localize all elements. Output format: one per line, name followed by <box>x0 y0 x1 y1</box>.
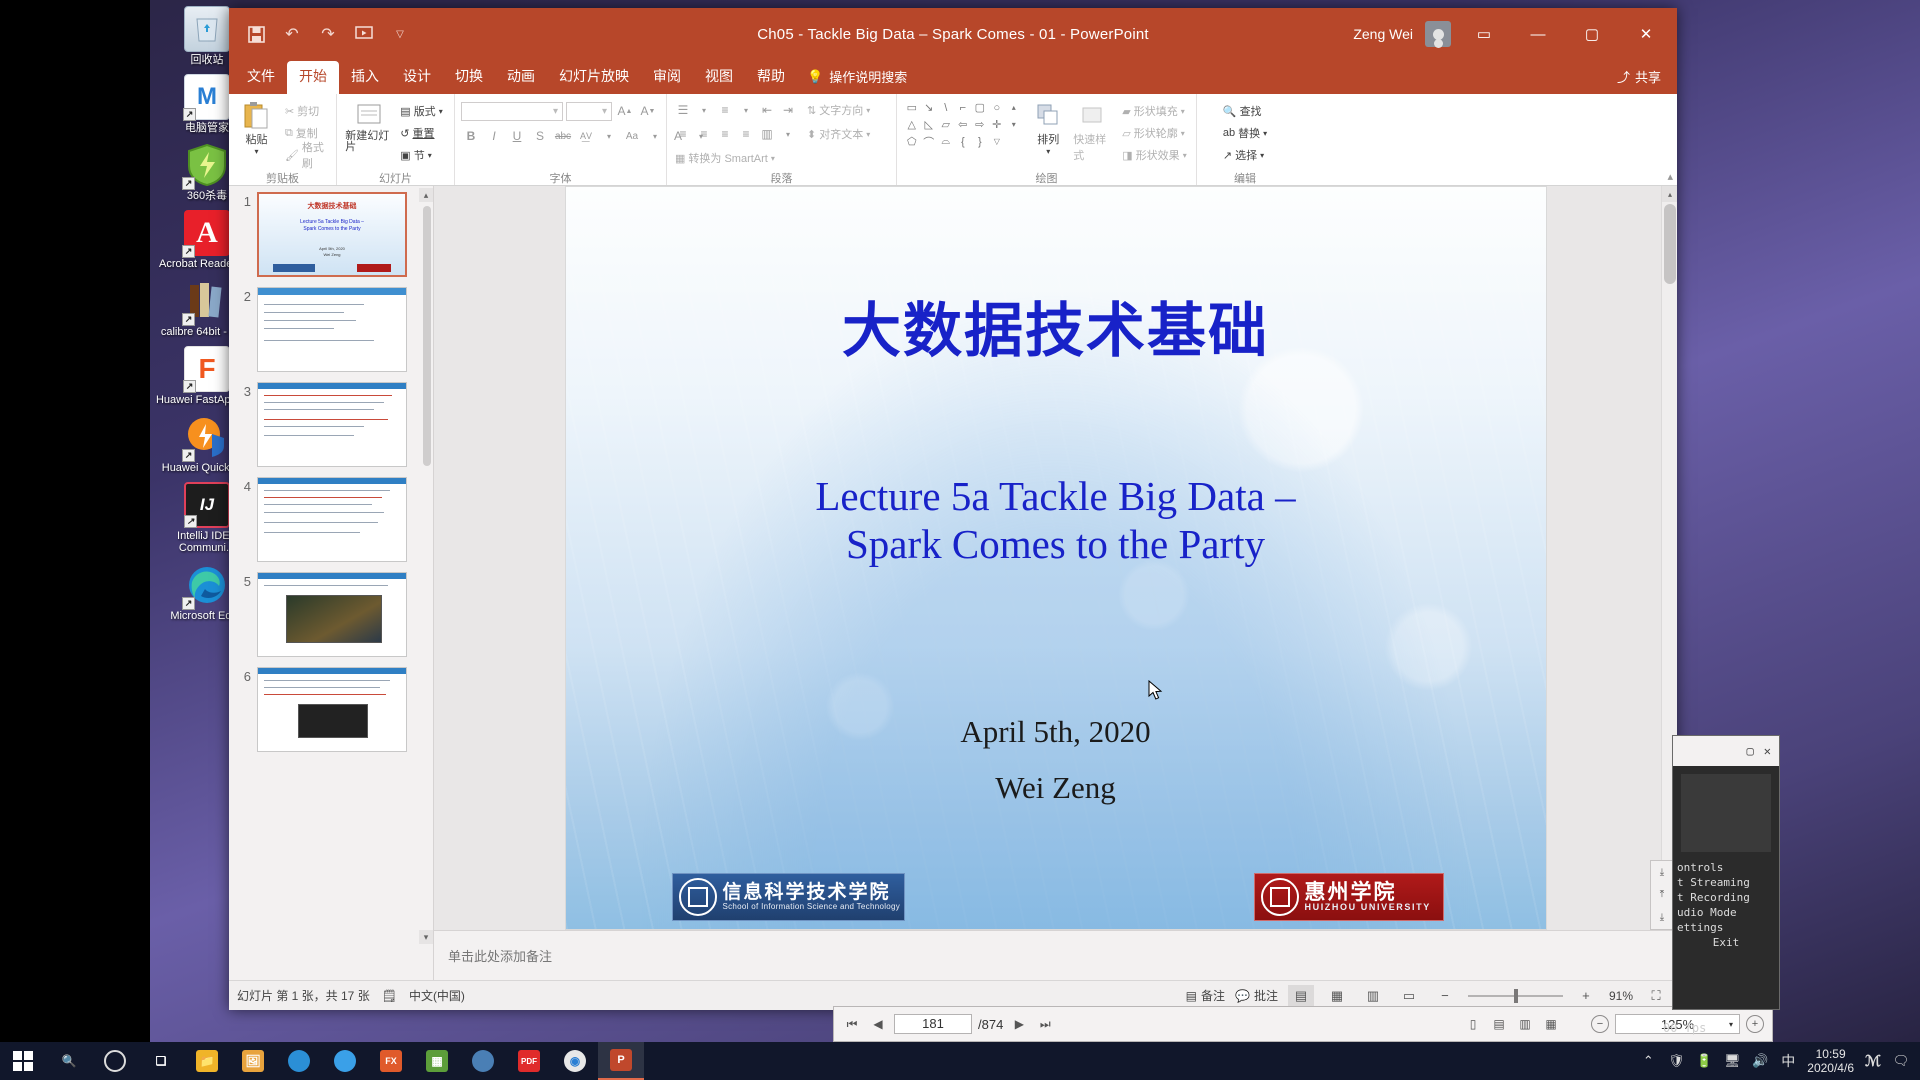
slide-editing-pane: 大数据技术基础 Lecture 5a Tackle Big Data – Spa… <box>434 186 1677 980</box>
continuous-view-icon[interactable]: ▤ <box>1489 1014 1509 1034</box>
tab-slideshow[interactable]: 幻灯片放映 <box>547 61 641 94</box>
thumbnail-text-line <box>264 435 354 436</box>
shape-arrow-icon[interactable]: ↘ <box>920 99 937 116</box>
numbering-button[interactable]: ≡ <box>715 100 735 120</box>
normal-view-button[interactable]: ▤ <box>1288 985 1314 1007</box>
slide-thumbnail-3[interactable] <box>257 382 407 467</box>
chevron-down-icon: ▾ <box>1260 151 1264 160</box>
taskbar-pdf[interactable]: PDF <box>506 1042 552 1080</box>
convert-smartart-button[interactable]: ▦转换为 SmartArt▾ <box>673 148 778 168</box>
bullets-button[interactable]: ☰ <box>673 100 693 120</box>
taskbar-file-explorer[interactable]: 📁 <box>184 1042 230 1080</box>
shape-plus-icon[interactable]: ✛ <box>988 116 1005 133</box>
section-icon: ▣ <box>400 149 410 162</box>
taskbar-start-button[interactable] <box>0 1042 46 1080</box>
start-icon <box>12 1050 34 1072</box>
thumbnail-text-line <box>264 687 380 688</box>
facing-continuous-view-icon[interactable]: ▦ <box>1541 1014 1561 1034</box>
zoom-out-button[interactable]: − <box>1591 1015 1609 1033</box>
system-tray: ⌃ 🛡 🔋 🖥 🔊 中 10:59 2020/4/6 ℳ 🗨 <box>1639 1047 1920 1075</box>
thumbnail-text-line <box>264 522 378 523</box>
thumbnail-text-line <box>264 320 356 321</box>
clock-date: 2020/4/6 <box>1807 1061 1854 1075</box>
chevron-down-icon: ▾ <box>1181 107 1185 116</box>
shadow-button[interactable]: S <box>530 126 550 146</box>
replace-icon: ab <box>1223 127 1235 139</box>
quick-styles-button[interactable]: 快速样式 <box>1073 99 1111 163</box>
new-slide-icon <box>356 99 382 131</box>
avatar[interactable] <box>1425 21 1451 47</box>
chevron-down-icon: ▾ <box>771 154 775 163</box>
decrease-font-size-button[interactable]: A▼ <box>638 101 658 121</box>
group-label-paragraph: 段落 <box>771 170 793 185</box>
move-down-icon[interactable]: ⤓ <box>1660 867 1664 878</box>
align-right-button[interactable]: ≡ <box>715 124 735 144</box>
align-text-icon: ⬍ <box>807 128 816 141</box>
chevron-down-icon: ▾ <box>428 151 432 160</box>
increase-font-size-button[interactable]: A▲ <box>615 101 635 121</box>
clock[interactable]: 10:59 2020/4/6 <box>1807 1047 1854 1075</box>
thumbnail-scrollbar[interactable] <box>423 206 431 466</box>
shortcut-arrow-icon: ↗ <box>182 449 195 462</box>
replace-label: 替换 <box>1238 125 1260 141</box>
share-button[interactable]: ⤴ 共享 <box>1601 62 1677 94</box>
new-slide-button[interactable]: 新建幻灯片 <box>345 99 393 153</box>
zoom-out-button[interactable]: − <box>1432 985 1458 1007</box>
security-icon[interactable]: 🛡 <box>1667 1052 1685 1070</box>
reset-icon: ↺ <box>400 127 409 140</box>
convert-smartart-label: 转换为 SmartArt <box>688 150 767 166</box>
tell-me-label: 操作说明搜索 <box>829 67 907 86</box>
reset-label: 重置 <box>413 125 435 141</box>
shape-arc-icon[interactable]: ⌓ <box>937 133 954 150</box>
shortcut-arrow-icon: ↗ <box>182 177 195 190</box>
slide-subtitle-line-2: Spark Comes to the Party <box>566 520 1546 568</box>
shape-parallelogram-icon[interactable]: ▱ <box>937 116 954 133</box>
bold-button[interactable]: B <box>461 126 481 146</box>
shape-triangle-icon[interactable]: △ <box>903 116 920 133</box>
chevron-down-icon[interactable]: ▾ <box>645 126 665 146</box>
section-button[interactable]: ▣节▾ <box>397 145 445 165</box>
obs-side-toolbar[interactable]: ⤓ ⤒ ⤓ <box>1650 860 1674 930</box>
paste-icon <box>243 99 269 131</box>
zoom-slider[interactable] <box>1468 995 1563 997</box>
obs-menu-item-controls[interactable]: ontrols <box>1673 860 1779 875</box>
school-logo-en: School of Information Science and Techno… <box>723 902 901 911</box>
undo-icon[interactable]: ↶ <box>281 23 303 45</box>
thumbnail-text-line <box>264 532 360 533</box>
volume-icon[interactable]: 🔊 <box>1751 1052 1769 1070</box>
chevron-down-icon: ▾ <box>602 106 607 117</box>
slide-canvas[interactable]: 大数据技术基础 Lecture 5a Tackle Big Data – Spa… <box>565 186 1547 930</box>
taskbar-edge[interactable] <box>276 1042 322 1080</box>
battery-icon[interactable]: 🔋 <box>1695 1052 1713 1070</box>
shape-fill-icon: ▰ <box>1122 105 1130 118</box>
shape-fill-button[interactable]: ▰形状填充▾ <box>1119 101 1189 121</box>
tab-view[interactable]: 视图 <box>693 61 745 94</box>
thumbnail-row[interactable]: 4 <box>229 477 433 562</box>
slide-count-label: 幻灯片 第 1 张，共 17 张 <box>237 987 370 1004</box>
taskbar-chrome-alt[interactable] <box>460 1042 506 1080</box>
search-icon: 🔍 <box>1223 105 1237 118</box>
thumbnail-text-line <box>264 419 388 420</box>
ribbon-group-slides: 新建幻灯片 ▤版式▾ ↺重置 ▣节▾ 幻灯片 <box>337 94 455 185</box>
tell-me-search[interactable]: 💡 操作说明搜索 <box>797 62 917 94</box>
section-label: 节 <box>414 147 425 163</box>
edge-icon <box>288 1050 310 1072</box>
increase-indent-button[interactable]: ⇥ <box>778 100 798 120</box>
university-logo[interactable]: 惠州学院 HUIZHOU UNIVERSITY <box>1254 873 1444 921</box>
comment-icon: 💬 <box>1235 989 1250 1003</box>
obs-menu-item-settings[interactable]: ettings <box>1673 920 1779 935</box>
customize-qat-icon[interactable]: ▽ <box>389 23 411 45</box>
collapse-ribbon-icon[interactable]: ▴ <box>1667 170 1673 183</box>
shapes-scroll-up-icon[interactable]: ▴ <box>1005 99 1022 116</box>
powerpoint-icon: P <box>610 1049 632 1071</box>
thumbnail-scroll-down-button[interactable]: ▾ <box>419 930 433 944</box>
thumbnail-header-bar <box>258 668 406 674</box>
thumbnail-number: 5 <box>233 572 251 589</box>
minimize-button[interactable]: — <box>1517 16 1559 52</box>
change-case-button[interactable]: Aa <box>622 126 642 146</box>
scissors-icon: ✂ <box>285 105 294 118</box>
thumbnail-header-bar <box>258 573 406 579</box>
obs-menu-item-studio-mode[interactable]: udio Mode <box>1673 905 1779 920</box>
obs-menu-item-start-streaming[interactable]: t Streaming <box>1673 875 1779 890</box>
next-page-button[interactable]: ▶ <box>1009 1014 1029 1034</box>
task-view-icon: ❏ <box>150 1050 172 1072</box>
fit-slide-to-window-button[interactable]: ⛶ <box>1643 985 1669 1007</box>
network-icon[interactable]: 🖥 <box>1723 1052 1741 1070</box>
tab-file[interactable]: 文件 <box>235 61 287 94</box>
taskbar-photos[interactable]: 🖼 <box>230 1042 276 1080</box>
shape-outline-icon: ▱ <box>1122 127 1130 140</box>
chevron-down-icon: ▾ <box>553 106 558 117</box>
first-page-button[interactable]: ⏮ <box>842 1014 862 1034</box>
chevron-down-icon: ▾ <box>1729 1020 1733 1029</box>
previous-page-button[interactable]: ◀ <box>868 1014 888 1034</box>
format-painter-icon: 🖌 <box>285 149 299 162</box>
tab-review[interactable]: 审阅 <box>641 61 693 94</box>
paste-button[interactable]: 粘贴 ▾ <box>235 99 278 156</box>
school-logo-text: 信息科学技术学院 School of Information Science a… <box>723 883 901 911</box>
single-page-view-icon[interactable]: ▯ <box>1463 1014 1483 1034</box>
account-name[interactable]: Zeng Wei <box>1353 26 1413 42</box>
ribbon-group-font: ▾ ▾ A▲ A▼ B I U S abc A͟V ▾ Aa ▾ <box>455 94 667 185</box>
thumbnail-row[interactable]: 6 <box>229 667 433 752</box>
obs-menu-item-exit[interactable]: Exit <box>1673 935 1779 950</box>
smartart-icon: ▦ <box>675 152 685 165</box>
language-label[interactable]: 中文(中国) <box>409 987 465 1004</box>
quick-styles-icon <box>1081 99 1103 131</box>
thumbnail-text-line <box>264 409 374 410</box>
redo-icon[interactable]: ↷ <box>317 23 339 45</box>
shape-corner-icon[interactable]: ⌐ <box>954 99 971 116</box>
shape-effects-button[interactable]: ◨形状效果▾ <box>1119 145 1189 165</box>
thumbnail-text-line <box>264 402 384 403</box>
ribbon-group-editing: 🔍查找 ab替换▾ ↗选择▾ 编辑 <box>1197 94 1293 185</box>
save-icon[interactable] <box>245 23 267 45</box>
thumbnail-header-bar <box>258 288 406 295</box>
taskbar-browser2[interactable] <box>322 1042 368 1080</box>
strikethrough-button[interactable]: abc <box>553 126 573 146</box>
thumbnail-row[interactable]: 3 <box>229 382 433 467</box>
chevron-down-icon: ▾ <box>1046 147 1050 156</box>
title-bar: ↶ ↷ ▽ Ch05 - Tackle Big Data – Spark Com… <box>229 8 1677 60</box>
quick-access-toolbar: ↶ ↷ ▽ <box>229 23 411 45</box>
slide-sorter-view-button[interactable]: ▦ <box>1324 985 1350 1007</box>
thumbnail-text-line <box>264 585 388 586</box>
thumbnail-text-line <box>264 490 390 491</box>
comments-button[interactable]: 💬批注 <box>1235 987 1278 1004</box>
current-page-input[interactable]: 181 <box>894 1014 972 1034</box>
obs-fps-label: 00 fps <box>1663 1021 1706 1035</box>
tab-home[interactable]: 开始 <box>287 61 339 94</box>
taskbar-chrome[interactable]: ◉ <box>552 1042 598 1080</box>
start-slideshow-icon[interactable] <box>353 23 375 45</box>
paste-label: 粘贴 <box>245 131 267 147</box>
quick-styles-label: 快速样式 <box>1073 131 1111 163</box>
taskbar-powerpoint[interactable]: P <box>598 1042 644 1080</box>
shape-rounded-rect-icon[interactable]: ▢ <box>971 99 988 116</box>
slide-author[interactable]: Wei Zeng <box>566 770 1546 806</box>
layout-button[interactable]: ▤版式▾ <box>397 101 445 121</box>
thumbnail-text-line <box>264 426 364 427</box>
slide-thumbnail-4[interactable] <box>257 477 407 562</box>
foxit-icon: FX <box>380 1050 402 1072</box>
school-logo[interactable]: 信息科学技术学院 School of Information Science a… <box>672 873 905 921</box>
font-name-row: ▾ ▾ A▲ A▼ <box>461 101 658 121</box>
select-label: 选择 <box>1235 147 1257 163</box>
obs-restore-button[interactable]: ▢ <box>1747 744 1754 758</box>
taskbar-search-button[interactable]: 🔍 <box>46 1042 92 1080</box>
file-explorer-icon: 📁 <box>196 1050 218 1072</box>
italic-button[interactable]: I <box>484 126 504 146</box>
notification-icon[interactable]: 🗨 <box>1892 1052 1910 1070</box>
notes-pane[interactable]: 单击此处添加备注 <box>434 930 1677 980</box>
ime-indicator[interactable]: 中 <box>1779 1052 1797 1070</box>
thumbnail-number: 3 <box>233 382 251 399</box>
taskbar-task-view-button[interactable]: ❏ <box>138 1042 184 1080</box>
obs-title-bar: ▢ ✕ <box>1673 736 1779 766</box>
group-label-editing: 编辑 <box>1234 170 1256 185</box>
chrome-alt-icon <box>472 1050 494 1072</box>
screen-letterbox-left <box>0 0 150 1080</box>
arrange-button[interactable]: 排列 ▾ <box>1031 99 1065 156</box>
move-bottom-icon[interactable]: ⤓ <box>1660 912 1664 923</box>
maximize-button[interactable]: ▢ <box>1571 16 1613 52</box>
layout-label: 版式 <box>414 103 436 119</box>
align-buttons: ≡ ≡ ≡ ≡ ▥ ▾ <box>673 124 798 144</box>
chevron-down-icon: ▾ <box>1181 129 1185 138</box>
notes-button[interactable]: ▤备注 <box>1186 987 1225 1004</box>
facing-view-icon[interactable]: ▥ <box>1515 1014 1535 1034</box>
chevron-down-icon: ▾ <box>866 106 870 115</box>
thumbnail-number: 1 <box>233 192 251 209</box>
shape-curve-icon[interactable]: ⌒ <box>920 133 937 150</box>
chevron-down-icon[interactable]: ▾ <box>736 100 756 120</box>
slideshow-view-button[interactable]: ▭ <box>1396 985 1422 1007</box>
huawei-quickapp-icon: ↗ <box>184 414 230 460</box>
school-seal-icon <box>679 878 717 916</box>
app-tray-icon[interactable]: ℳ <box>1864 1052 1882 1070</box>
slide-subtitle-line-1: Lecture 5a Tackle Big Data – <box>566 472 1546 520</box>
zoom-in-button[interactable]: + <box>1746 1015 1764 1033</box>
replace-button[interactable]: ab替换▾ <box>1220 123 1270 143</box>
university-logo-en: HUIZHOU UNIVERSITY <box>1305 902 1431 912</box>
shape-right-arrow-icon[interactable]: ⇨ <box>971 116 988 133</box>
comments-label: 批注 <box>1254 987 1278 1004</box>
font-name-combo[interactable]: ▾ <box>461 102 563 121</box>
taskbar-app-green[interactable]: ▦ <box>414 1042 460 1080</box>
new-slide-label: 新建幻灯片 <box>345 131 393 153</box>
move-up-icon[interactable]: ⤒ <box>1660 889 1664 900</box>
app-green-icon: ▦ <box>426 1050 448 1072</box>
shortcut-arrow-icon: ↗ <box>184 515 197 528</box>
tab-insert[interactable]: 插入 <box>339 61 391 94</box>
thumbnail-text-line <box>264 328 334 329</box>
thumbnail-text-line <box>264 304 364 305</box>
slide-thumbnail-pane[interactable]: 1 大数据技术基础 Lecture 5a Tackle Big Data –Sp… <box>229 186 434 980</box>
slide-thumbnail-2[interactable] <box>257 287 407 372</box>
shortcut-arrow-icon: ↗ <box>183 380 196 393</box>
format-painter-button[interactable]: 🖌格式刷 <box>282 145 330 165</box>
align-text-button[interactable]: ⬍对齐文本▾ <box>804 124 873 144</box>
shape-fill-label: 形状填充 <box>1134 103 1178 119</box>
thumbnail-number: 6 <box>233 667 251 684</box>
spellcheck-icon[interactable]: 🗒 <box>382 989 397 1003</box>
tab-design[interactable]: 设计 <box>391 61 443 94</box>
work-area: 1 大数据技术基础 Lecture 5a Tackle Big Data –Sp… <box>229 186 1677 980</box>
thumbnail-row[interactable]: 1 大数据技术基础 Lecture 5a Tackle Big Data –Sp… <box>229 192 433 277</box>
thumbnail-number: 4 <box>233 477 251 494</box>
shape-right-triangle-icon[interactable]: ◺ <box>920 116 937 133</box>
paste-dropdown-icon[interactable]: ▾ <box>254 147 258 156</box>
chevron-down-icon: ▾ <box>1263 129 1267 138</box>
reset-button[interactable]: ↺重置 <box>397 123 445 143</box>
pdf-icon: PDF <box>518 1050 540 1072</box>
tab-help[interactable]: 帮助 <box>745 61 797 94</box>
decrease-indent-button[interactable]: ⇤ <box>757 100 777 120</box>
format-painter-label: 格式刷 <box>302 139 327 171</box>
360-antivirus-icon: ↗ <box>184 142 230 188</box>
scroll-up-button[interactable]: ▴ <box>1662 186 1677 202</box>
thumbnail-row[interactable]: 5 <box>229 572 433 657</box>
shape-effects-icon: ◨ <box>1122 149 1132 162</box>
reading-view-button[interactable]: ▥ <box>1360 985 1386 1007</box>
lightbulb-icon: 💡 <box>807 69 823 85</box>
select-icon: ↗ <box>1223 149 1232 162</box>
select-button[interactable]: ↗选择▾ <box>1220 145 1270 165</box>
shape-left-arrow-icon[interactable]: ⇦ <box>954 116 971 133</box>
obs-overlay-window: ▢ ✕ ontrols t Streaming t Recording udio… <box>1672 735 1780 1010</box>
taskbar-cortana-button[interactable] <box>92 1042 138 1080</box>
pc-manager-icon: M↗ <box>184 74 230 120</box>
shortcut-arrow-icon: ↗ <box>182 245 195 258</box>
tab-animations[interactable]: 动画 <box>495 61 547 94</box>
photos-icon: 🖼 <box>242 1050 264 1072</box>
shape-brace-right-icon[interactable]: } <box>971 133 988 150</box>
find-button[interactable]: 🔍查找 <box>1220 101 1270 121</box>
shape-brace-left-icon[interactable]: { <box>954 133 971 150</box>
shortcut-arrow-icon: ↗ <box>182 313 195 326</box>
copy-icon: ⧉ <box>285 127 293 140</box>
underline-button[interactable]: U <box>507 126 527 146</box>
slide-thumbnail-6[interactable] <box>257 667 407 752</box>
desktop-background: 回收站 M↗ 电脑管家 ↗ 360杀毒 A↗ Acrobat Reader DC <box>0 0 1920 1080</box>
zoom-in-button[interactable]: + <box>1573 985 1599 1007</box>
show-hidden-icons-button[interactable]: ⌃ <box>1639 1052 1657 1070</box>
shape-pentagon-icon[interactable]: ⬠ <box>903 133 920 150</box>
thumbnail-image <box>298 704 368 738</box>
zoom-percent-label[interactable]: 91% <box>1609 989 1633 1003</box>
shape-outline-button[interactable]: ▱形状轮廓▾ <box>1119 123 1189 143</box>
chevron-down-icon[interactable]: ▾ <box>778 124 798 144</box>
shapes-more-icon[interactable]: ▽ <box>988 133 1005 150</box>
shapes-scroll-down-icon[interactable]: ▾ <box>1005 116 1022 133</box>
justify-button[interactable]: ≡ <box>736 124 756 144</box>
taskbar: 🔍 ❏ 📁 🖼 FX ▦ PDF ◉ P ⌃ 🛡 🔋 🖥 🔊 中 10:59 2… <box>0 1042 1920 1080</box>
thumbnail-text-line <box>264 504 372 505</box>
font-size-combo[interactable]: ▾ <box>566 102 612 121</box>
chrome-icon: ◉ <box>564 1050 586 1072</box>
character-spacing-button[interactable]: A͟V <box>576 126 596 146</box>
shape-line-icon[interactable]: \ <box>937 99 954 116</box>
chevron-down-icon[interactable]: ▾ <box>694 100 714 120</box>
slide-thumbnail-5[interactable] <box>257 572 407 657</box>
align-text-label: 对齐文本 <box>819 126 863 142</box>
chevron-down-icon: ▾ <box>1183 151 1187 160</box>
shapes-gallery[interactable]: ▭ ↘ \ ⌐ ▢ ○ ▴ △ ◺ ▱ ⇦ ⇨ ✛ ▾ ⬠ <box>903 99 1023 150</box>
text-direction-button[interactable]: ⇅文字方向▾ <box>804 100 873 120</box>
text-direction-label: 文字方向 <box>819 102 863 118</box>
slide-date[interactable]: April 5th, 2020 <box>566 714 1546 750</box>
title-bar-right: Zeng Wei ▭ — ▢ ✕ <box>1353 16 1677 52</box>
notes-placeholder: 单击此处添加备注 <box>448 946 552 965</box>
slide-title[interactable]: 大数据技术基础 <box>566 283 1546 368</box>
background-reader-window: ⏮ ◀ 181 /874 ▶ ⏭ ▯ ▤ ▥ ▦ − 125% ▾ + <box>833 1006 1773 1042</box>
cut-label: 剪切 <box>297 103 319 119</box>
shape-rectangle-icon[interactable]: ▭ <box>903 99 920 116</box>
slide-thumbnail-1[interactable]: 大数据技术基础 Lecture 5a Tackle Big Data –Spar… <box>257 192 407 277</box>
edge-icon: ↗ <box>184 562 230 608</box>
shortcut-arrow-icon: ↗ <box>182 597 195 610</box>
shape-oval-icon[interactable]: ○ <box>988 99 1005 116</box>
align-center-button[interactable]: ≡ <box>694 124 714 144</box>
clock-time: 10:59 <box>1807 1047 1854 1061</box>
scrollbar-thumb[interactable] <box>1664 204 1676 284</box>
thumbnail-header-bar <box>258 478 406 484</box>
arrange-label: 排列 <box>1037 131 1059 147</box>
obs-close-button[interactable]: ✕ <box>1764 744 1771 758</box>
ribbon-group-paragraph: ☰ ▾ ≡ ▾ ⇤ ⇥ ⇅文字方向▾ ≡ ≡ ≡ <box>667 94 897 185</box>
slide-subtitle[interactable]: Lecture 5a Tackle Big Data – Spark Comes… <box>566 472 1546 569</box>
chevron-down-icon[interactable]: ▾ <box>599 126 619 146</box>
last-page-button[interactable]: ⏭ <box>1035 1014 1055 1034</box>
cut-button[interactable]: ✂剪切 <box>282 101 330 121</box>
tab-transitions[interactable]: 切换 <box>443 61 495 94</box>
align-left-button[interactable]: ≡ <box>673 124 693 144</box>
ribbon-tabs: 文件 开始 插入 设计 切换 动画 幻灯片放映 审阅 视图 帮助 💡 操作说明搜… <box>229 60 1677 94</box>
ribbon-display-options-icon[interactable]: ▭ <box>1463 16 1505 52</box>
obs-menu-item-start-recording[interactable]: t Recording <box>1673 890 1779 905</box>
taskbar-foxit[interactable]: FX <box>368 1042 414 1080</box>
columns-button[interactable]: ▥ <box>757 124 777 144</box>
thumbnail-scroll-up-button[interactable]: ▴ <box>419 188 433 202</box>
close-button[interactable]: ✕ <box>1625 16 1667 52</box>
recycle-bin-icon <box>184 6 230 52</box>
thumbnail-row[interactable]: 2 <box>229 287 433 372</box>
